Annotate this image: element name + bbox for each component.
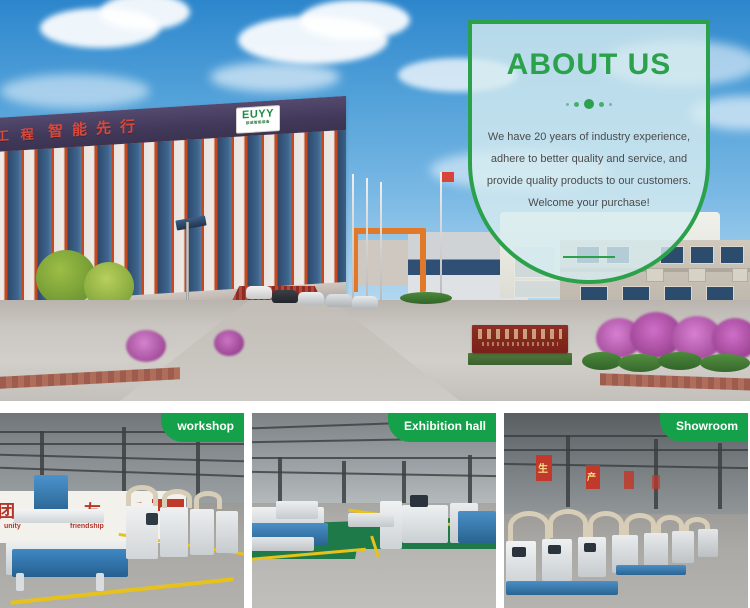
thumbnail-badge-exhibition-hall: Exhibition hall	[388, 413, 496, 442]
dot-icon	[599, 102, 604, 107]
dot-icon	[609, 103, 612, 106]
banner-text-cn: 产	[587, 470, 596, 483]
cloud-icon	[0, 74, 150, 108]
machine-control-panel	[146, 513, 158, 525]
dot-icon	[574, 102, 579, 107]
hanging-banner	[652, 475, 660, 489]
machine-cabinet	[402, 505, 448, 543]
machine-cabinet	[644, 533, 668, 567]
shrub	[582, 352, 622, 370]
shrub	[700, 354, 750, 372]
dust-extraction-hose	[508, 511, 550, 542]
machine-base	[348, 513, 394, 527]
machine-cabinet	[190, 509, 214, 555]
cloud-icon	[210, 62, 340, 92]
banner-text-cn: 生	[538, 460, 548, 475]
machine-row-left	[276, 501, 318, 519]
steel-column	[566, 435, 570, 507]
dot-decoration	[472, 98, 706, 110]
cnc-machine-leg	[16, 573, 24, 591]
roof-truss	[252, 457, 496, 459]
shrub	[618, 354, 662, 372]
flag-pole	[380, 182, 382, 302]
hanging-banner	[624, 471, 634, 489]
shrub	[658, 352, 702, 370]
steel-column	[654, 439, 658, 509]
machine-cabinet	[458, 511, 496, 543]
steel-column	[718, 443, 722, 509]
blossom-tree	[214, 330, 244, 356]
panel-underline	[563, 256, 615, 258]
wall-text-en-right: friendship	[70, 523, 104, 530]
machine-base-blue	[616, 565, 686, 575]
dust-extraction-hose	[126, 485, 158, 506]
roof-text-left: 工 程	[0, 123, 38, 145]
flag-pole	[440, 172, 442, 302]
parked-car	[326, 294, 352, 307]
blossom-tree	[126, 330, 166, 362]
parked-car	[246, 286, 272, 299]
flag-pole	[352, 174, 354, 302]
dot-icon	[584, 99, 594, 109]
machine-cabinet	[672, 531, 694, 563]
hanging-banner: 产	[586, 465, 600, 489]
description-line: provide quality products to our customer…	[486, 170, 692, 192]
thumbnail-badge-workshop: workshop	[161, 413, 244, 442]
wall-text-en-left: unity	[4, 523, 21, 530]
thumbnail-badge-showroom: Showroom	[660, 413, 748, 442]
machine-screen	[548, 545, 561, 554]
thumbnail-exhibition-hall[interactable]: Exhibition hall	[252, 413, 496, 608]
office-window	[720, 246, 744, 264]
description-line: We have 20 years of industry experience,	[486, 126, 692, 148]
roof-text-main: 智能先行	[48, 115, 144, 142]
air-conditioner-unit	[646, 268, 664, 282]
cloud-icon	[300, 0, 410, 40]
flag	[440, 172, 454, 182]
air-conditioner-unit	[688, 268, 706, 282]
badge-line-1: Exhibition	[404, 419, 462, 433]
parked-car	[272, 290, 298, 303]
dust-extraction-hose	[548, 509, 588, 538]
signboard-planter	[468, 353, 572, 365]
machine-base-blue	[506, 581, 618, 595]
office-window	[690, 246, 714, 264]
roof-truss	[504, 449, 748, 451]
steel-column	[122, 427, 126, 495]
gate-signboard	[472, 325, 568, 353]
shrub	[400, 292, 452, 304]
description-line: adhere to better quality and service, an…	[486, 148, 692, 170]
machine-screen	[512, 547, 526, 557]
dot-icon	[566, 103, 569, 106]
flag-pole	[366, 178, 368, 302]
thumbnail-workshop[interactable]: 团 结 友 爱 unity friendship workshop	[0, 413, 244, 608]
cnc-machine-base	[12, 549, 128, 577]
about-us-panel: ABOUT US We have 20 years of industry ex…	[468, 20, 710, 284]
machine-monitor	[410, 495, 428, 507]
dust-extraction-hose	[588, 511, 624, 538]
machine-cabinet	[126, 503, 158, 559]
parked-car	[298, 292, 324, 305]
description-line: Welcome your purchase!	[486, 192, 692, 214]
hanging-banner: 生	[536, 455, 552, 481]
machine-row-left	[252, 537, 314, 551]
machine-cabinet	[216, 511, 238, 553]
dust-extraction-hose	[194, 491, 222, 509]
company-logo: EUYY 欧威智能装备	[236, 105, 280, 134]
about-us-page: 工 程 智能先行 EUYY 欧威智能装备	[0, 0, 750, 608]
about-us-description: We have 20 years of industry experience,…	[486, 126, 692, 214]
cnc-machine-gantry	[14, 509, 104, 523]
thumbnail-row: 团 结 友 爱 unity friendship workshop	[0, 413, 750, 608]
machine-screen	[584, 543, 596, 552]
air-conditioner-unit	[732, 268, 748, 282]
hero-factory-photo: 工 程 智能先行 EUYY 欧威智能装备	[0, 0, 750, 401]
badge-line-2: hall	[465, 419, 486, 433]
machine-cabinet	[698, 529, 718, 557]
dust-extraction-hose	[162, 489, 192, 508]
thumbnail-showroom[interactable]: 生 产 Showroom	[504, 413, 748, 608]
parked-car	[352, 296, 378, 309]
orange-gantry-frame	[352, 228, 426, 292]
signboard-text-en	[482, 342, 558, 346]
cnc-machine-leg	[96, 573, 104, 591]
signboard-text-cn	[478, 329, 562, 339]
machine-cabinet	[160, 507, 188, 557]
page-title: ABOUT US	[472, 50, 706, 80]
